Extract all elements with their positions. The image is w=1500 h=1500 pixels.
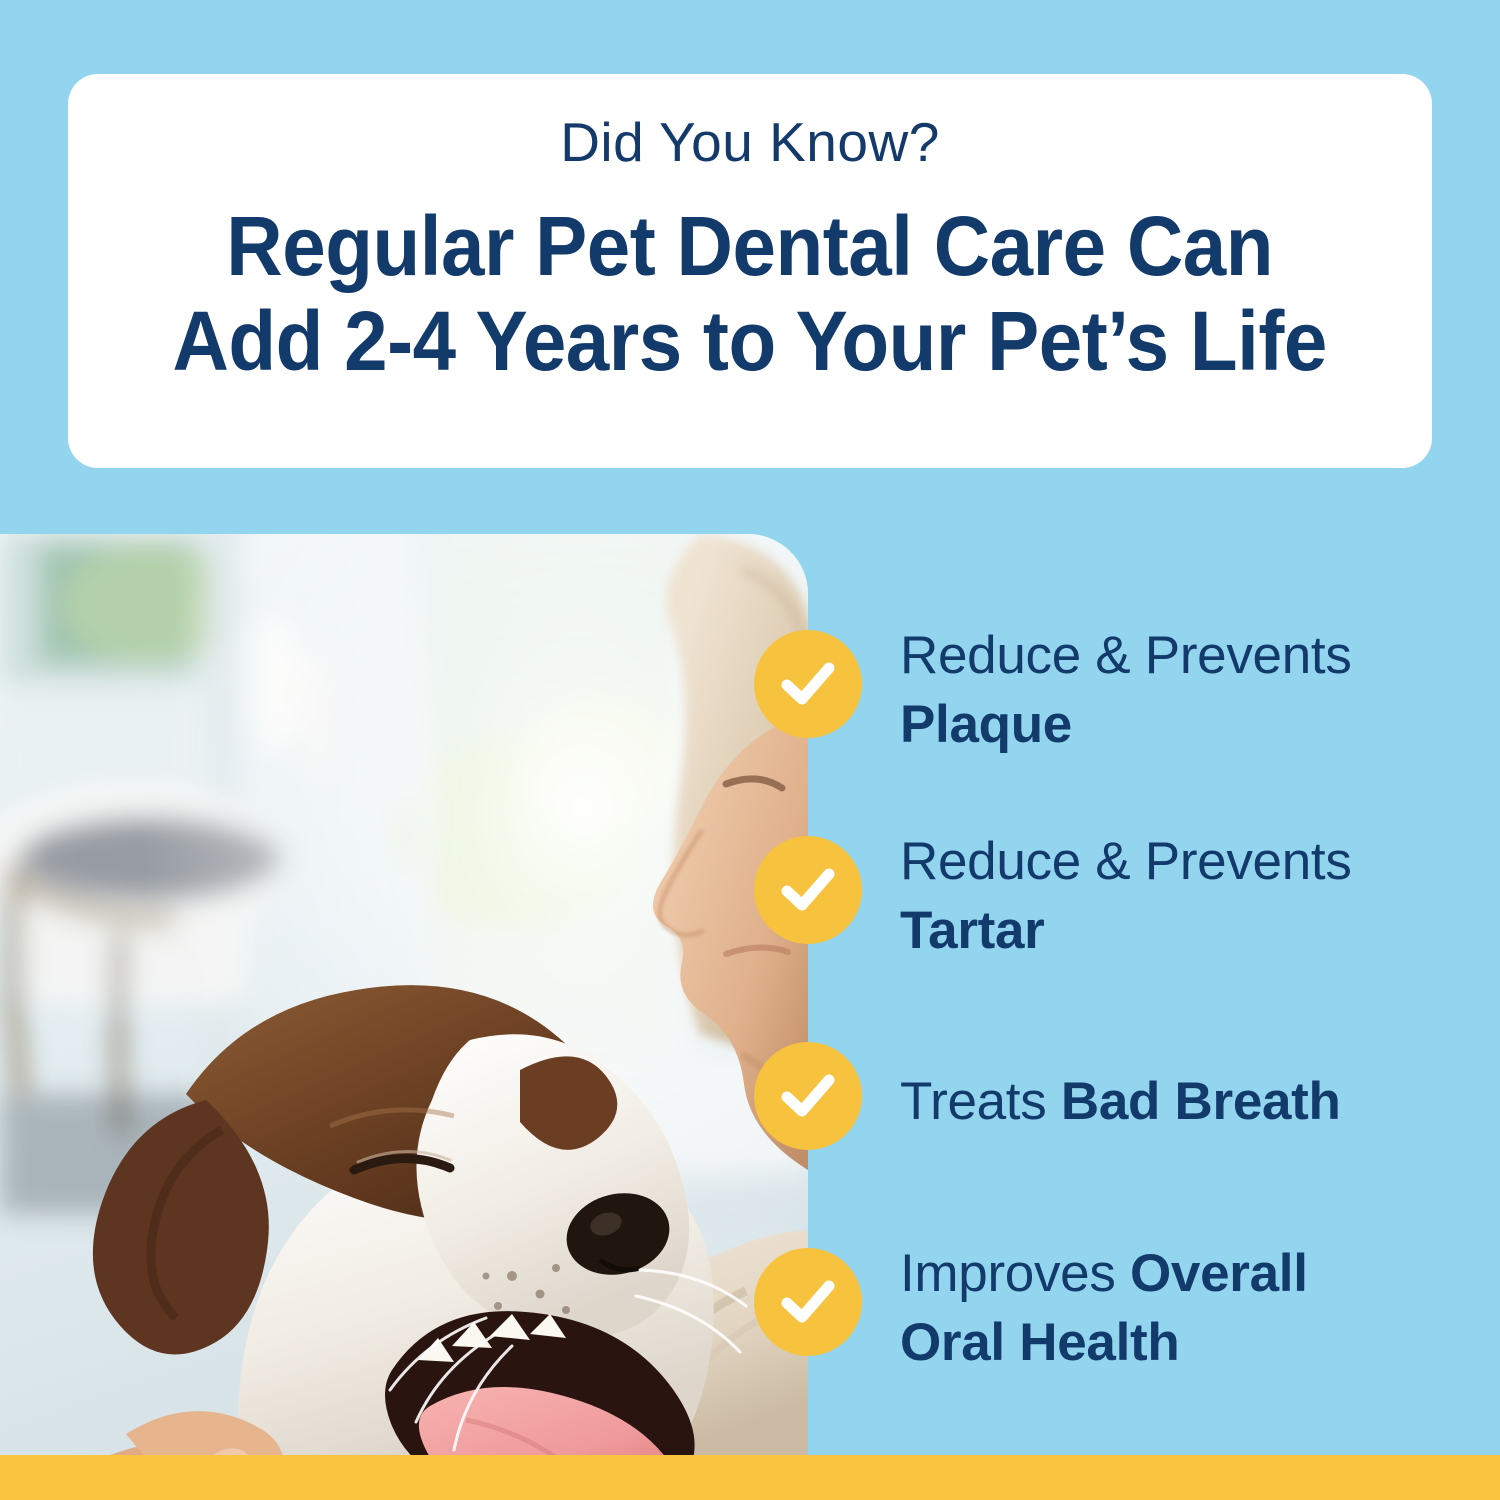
benefit-bold-text-2: Oral Health <box>900 1313 1179 1372</box>
benefit-regular-text: Improves <box>900 1244 1130 1303</box>
list-item: Treats Bad Breath <box>754 1012 1454 1218</box>
benefit-label: Reduce & Prevents Tartar <box>900 828 1440 966</box>
checkmark-icon <box>754 836 862 944</box>
benefit-bold-text: Overall <box>1130 1244 1308 1303</box>
dog-photo <box>0 534 808 1455</box>
checkmark-icon <box>754 1042 862 1150</box>
benefit-bold-text: Plaque <box>900 695 1072 754</box>
poster-root: Did You Know? Regular Pet Dental Care Ca… <box>0 0 1500 1500</box>
headline-line-1: Regular Pet Dental Care Can <box>173 199 1327 295</box>
checkmark-icon <box>754 630 862 738</box>
benefit-bold-text: Bad Breath <box>1061 1072 1341 1131</box>
benefit-label: Reduce & Prevents Plaque <box>900 622 1440 760</box>
eyebrow-text: Did You Know? <box>560 112 940 173</box>
headline-card: Did You Know? Regular Pet Dental Care Ca… <box>68 74 1432 468</box>
list-item: Reduce & Prevents Plaque <box>754 600 1454 806</box>
bottom-accent-bar <box>0 1455 1500 1500</box>
benefit-label: Treats Bad Breath <box>900 1068 1440 1137</box>
benefit-label: Improves Overall Oral Health <box>900 1240 1440 1378</box>
checkmark-icon <box>754 1248 862 1356</box>
benefits-list: Reduce & Prevents Plaque Reduce & Preven… <box>754 600 1454 1424</box>
benefit-regular-text: Reduce & Prevents <box>900 832 1352 891</box>
benefit-regular-text: Treats <box>900 1072 1061 1131</box>
list-item: Improves Overall Oral Health <box>754 1218 1454 1424</box>
headline-line-2: Add 2-4 Years to Your Pet’s Life <box>173 294 1327 390</box>
list-item: Reduce & Prevents Tartar <box>754 806 1454 1012</box>
benefit-bold-text: Tartar <box>900 901 1045 960</box>
benefit-regular-text: Reduce & Prevents <box>900 626 1352 685</box>
page-title: Regular Pet Dental Care Can Add 2-4 Year… <box>173 199 1327 391</box>
